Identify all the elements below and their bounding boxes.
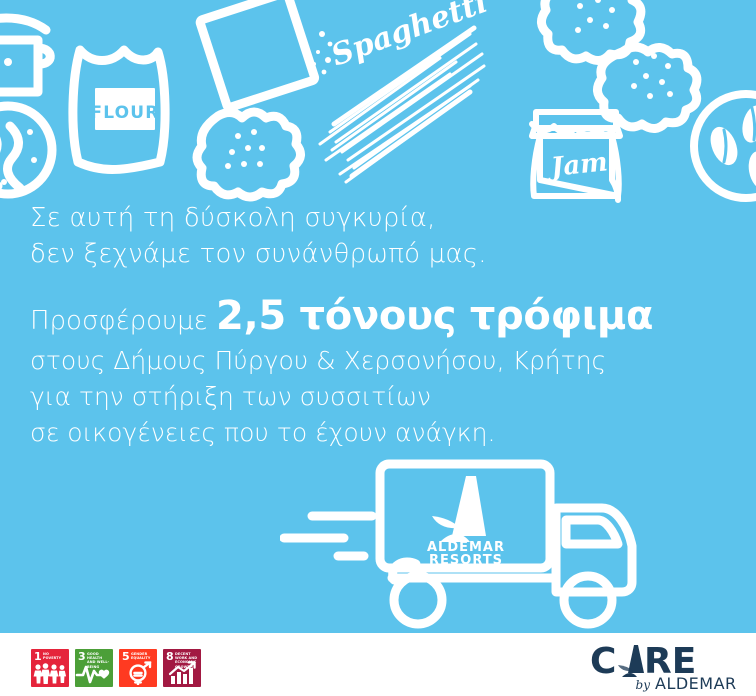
heartbeat-icon xyxy=(75,661,113,685)
cracker-biscuit-icon-2 xyxy=(597,47,696,129)
copy-spacer xyxy=(30,272,730,294)
sdg-goal-row: 1 NO POVERTY 3 GOOD HEALTH AND WELL-BEIN… xyxy=(31,649,201,687)
jam-jar-icon xyxy=(532,112,620,200)
coffee-bean-shapes xyxy=(705,103,756,191)
cracker-biscuit-icon-3 xyxy=(541,0,640,61)
sub-line-1: στους Δήμους Πύργου & Χερσονήσου, Κρήτης xyxy=(30,343,730,379)
spaghetti-label: Spaghetti xyxy=(327,0,492,74)
poster-canvas: Spaghetti xyxy=(0,0,756,633)
offer-prefix: Προσφέρουμε xyxy=(30,306,216,336)
sdg-goal-1-title: NO POVERTY xyxy=(43,652,67,660)
offer-highlight: 2,5 τόνους τρόφιμα xyxy=(216,293,653,339)
sdg-goal-8[interactable]: 8 DECENT WORK AND ECONOMIC GROWTH xyxy=(163,649,201,687)
sub-line-2: για την στήριξη των συσσιτίων xyxy=(30,379,730,415)
lead-paragraph: Σε αυτή τη δύσκολη συγκυρία, δεν ξεχνάμε… xyxy=(30,200,730,272)
truck-brand-line-2: RESORTS xyxy=(429,553,503,568)
noodle-bowl-icon xyxy=(0,106,52,194)
lead-line-2: δεν ξεχνάμε τον συνάνθρωπό μας. xyxy=(30,236,730,272)
sdg-goal-3[interactable]: 3 GOOD HEALTH AND WELL-BEING xyxy=(75,649,113,687)
lead-line-1: Σε αυτή τη δύσκολη συγκυρία, xyxy=(30,200,730,236)
coffee-beans-icon xyxy=(694,94,756,198)
flour-sack-icon xyxy=(73,50,165,170)
sub-line-3: σε οικογένειες που το έχουν ανάγκη. xyxy=(30,415,730,451)
people-group-icon xyxy=(31,661,69,685)
gender-equality-icon xyxy=(119,661,157,685)
care-logo-sail-a-icon xyxy=(618,645,644,677)
sdg-goal-5-title: GENDER EQUALITY xyxy=(131,652,155,660)
poster: Spaghetti xyxy=(0,0,756,696)
cracker-biscuit-icon-1 xyxy=(197,112,301,197)
sugar-bag-icon xyxy=(199,0,315,108)
care-by-aldemar-logo[interactable]: C RE by ALDEMAR xyxy=(588,641,738,693)
poster-copy: Σε αυτή τη δύσκολη συγκυρία, δεν ξεχνάμε… xyxy=(30,200,730,451)
delivery-truck-illustration: ALDEMAR RESORTS xyxy=(280,450,680,630)
sdg-goal-5[interactable]: 5 GENDER EQUALITY xyxy=(119,649,157,687)
cooking-pot-icon xyxy=(0,18,50,92)
care-logo-text-c: C xyxy=(590,641,616,682)
sugar-sprinkle-icon xyxy=(312,31,332,74)
flour-label: FLOUR xyxy=(90,103,159,123)
care-logo-byline-brand: ALDEMAR xyxy=(655,674,737,693)
care-logo-byline-prefix: by xyxy=(636,678,651,692)
footer-bar: 1 NO POVERTY 3 GOOD HEALTH AND WELL-BEIN… xyxy=(0,633,756,696)
jam-label: Jam xyxy=(545,147,609,183)
growth-chart-icon xyxy=(163,661,201,685)
spaghetti-strands-icon xyxy=(320,34,484,182)
aldemar-sail-icon xyxy=(432,476,486,542)
sdg-goal-1[interactable]: 1 NO POVERTY xyxy=(31,649,69,687)
offer-headline: Προσφέρουμε 2,5 τόνους τρόφιμα xyxy=(30,294,730,343)
